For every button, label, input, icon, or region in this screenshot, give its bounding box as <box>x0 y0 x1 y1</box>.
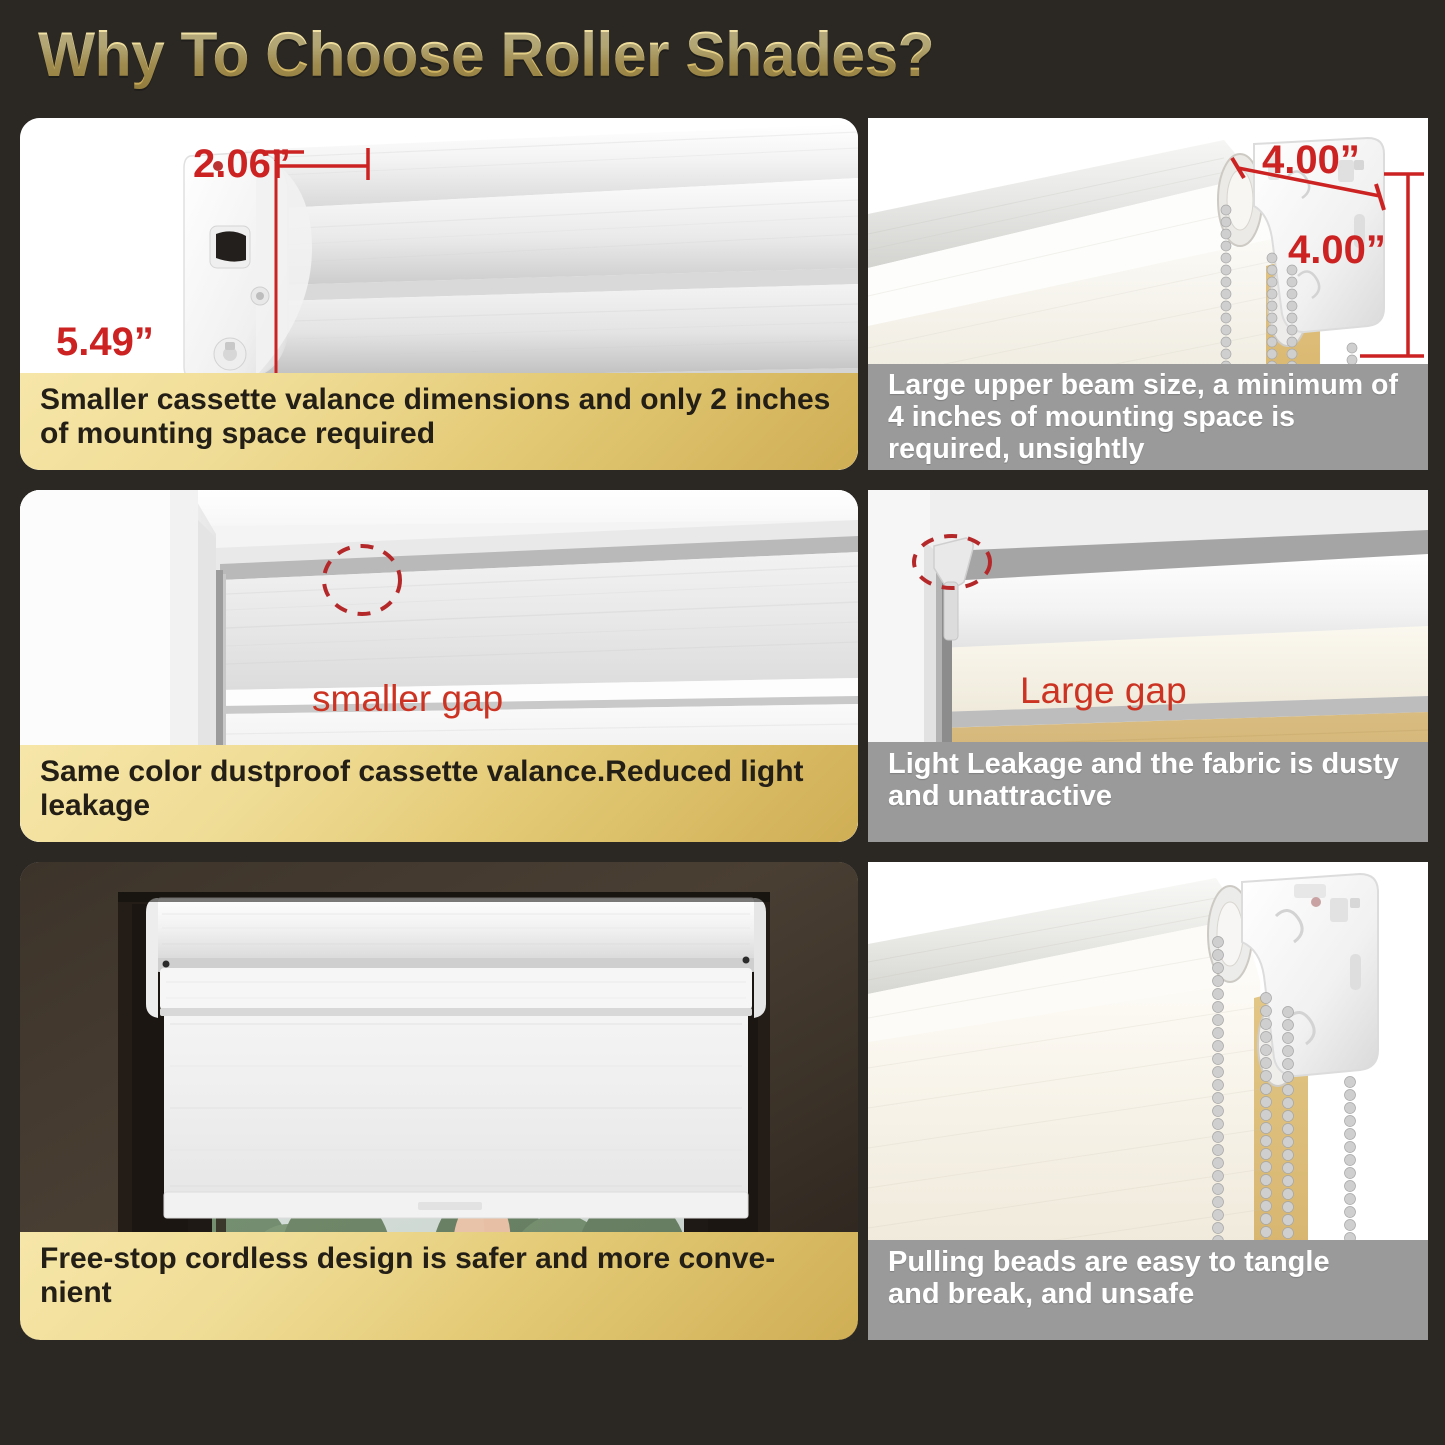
panel-1-caption: Smaller cassette valance dimensions and … <box>20 373 858 470</box>
panel-5-cordless-design: Free-stop cordless design is safer and m… <box>20 862 858 1340</box>
panel-5-caption-line-2: nient <box>40 1276 840 1310</box>
large-gap-label: Large gap <box>1020 670 1187 712</box>
smaller-gap-label: smaller gap <box>312 678 503 720</box>
infographic-page: Why To Choose Roller Shades? <box>0 0 1445 1445</box>
beam-width-dimension-label: 4.00” <box>1262 138 1360 183</box>
panel-3-caption: Same color dustproof cassette valance.Re… <box>20 745 858 842</box>
panel-6-caption-line-1: Pulling beads are easy to tangle <box>888 1246 1410 1278</box>
panel-2-caption: Large upper beam size, a minimum of 4 in… <box>868 364 1428 470</box>
panel-6-caption: Pulling beads are easy to tangle and bre… <box>868 1240 1428 1340</box>
panel-4-light-leakage: Large gap Light Leakage and the fabric i… <box>868 490 1428 842</box>
height-dimension-label: 5.49” <box>56 320 154 365</box>
panel-2-large-beam: 4.00” 4.00” Large upper beam size, a min… <box>868 118 1428 470</box>
page-title: Why To Choose Roller Shades? <box>38 19 934 91</box>
panel-5-caption: Free-stop cordless design is safer and m… <box>20 1232 858 1340</box>
panel-6-caption-line-2: and break, and unsafe <box>888 1278 1410 1310</box>
panel-1-cassette-dimensions: 5.49” 2.06” Smaller cassette valance dim… <box>20 118 858 470</box>
panel-3-dustproof-valance: smaller gap Same color dustproof cassett… <box>20 490 858 842</box>
panel-4-caption: Light Leakage and the fabric is dusty an… <box>868 742 1428 842</box>
panel-5-caption-line-1: Free-stop cordless design is safer and m… <box>40 1242 840 1276</box>
width-dimension-label: 2.06” <box>193 142 291 187</box>
beam-height-dimension-label: 4.00” <box>1288 228 1386 273</box>
panel-6-pulling-beads: Pulling beads are easy to tangle and bre… <box>868 862 1428 1340</box>
title-bar: Why To Choose Roller Shades? <box>0 0 1445 110</box>
